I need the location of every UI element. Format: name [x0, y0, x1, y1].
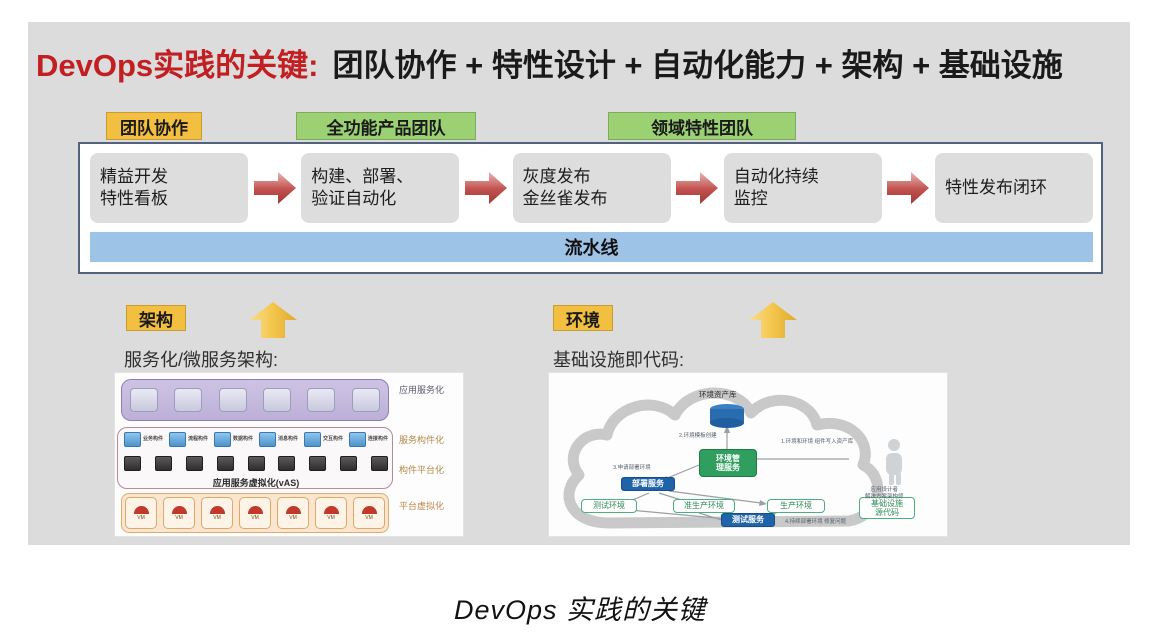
vm-hat-icon	[172, 506, 187, 514]
app-chat-icon	[219, 388, 247, 412]
vm-chip: VM	[277, 497, 309, 529]
flow-box-2-line2: 验证自动化	[311, 188, 396, 210]
flow-box-2[interactable]: 构建、部署、 验证自动化	[301, 153, 459, 223]
slide-title: DevOps实践的关键: 团队协作 + 特性设计 + 自动化能力 + 架构 + …	[36, 40, 1126, 84]
component-icon	[169, 432, 186, 447]
chip-domain-feature-team[interactable]: 领域特性团队	[608, 112, 796, 140]
component-cell: 流程构件	[169, 432, 208, 447]
component-cell: 数据构件	[214, 432, 253, 447]
platform-icon	[248, 456, 265, 471]
slide-canvas: DevOps实践的关键: 团队协作 + 特性设计 + 自动化能力 + 架构 + …	[28, 22, 1130, 545]
title-rest: 团队协作 + 特性设计 + 自动化能力 + 架构 + 基础设施	[332, 40, 1062, 85]
section-badge-architecture[interactable]: 架构	[126, 305, 186, 331]
component-label-6a: 连接	[368, 436, 378, 442]
vm-chip: VM	[201, 497, 233, 529]
component-icon	[349, 432, 366, 447]
cloud-figure: 环境资产库 环境管 理服务 部署服务 测试服务 测试环境 准生产环境 生产环境	[548, 372, 948, 537]
component-label-5b: 构件	[333, 436, 343, 442]
flow-box-1[interactable]: 精益开发 特性看板	[90, 153, 248, 223]
component-row-bottom	[124, 456, 388, 471]
component-row-top: 业务构件 流程构件 数据构件 消息构件	[124, 432, 388, 447]
flow-box-4-line2: 监控	[734, 188, 768, 210]
flow-box-3-line2: 金丝雀发布	[523, 188, 608, 210]
component-cell: 消息构件	[259, 432, 298, 447]
vm-hat-icon	[248, 506, 263, 514]
test-service-box[interactable]: 测试服务	[721, 513, 775, 527]
annotation-3: 3.申请部署环境	[613, 465, 651, 472]
vm-hat-icon	[286, 506, 301, 514]
flow-box-5-line1: 特性发布闭环	[945, 177, 1047, 199]
platform-icon	[371, 456, 388, 471]
caption-service-microservice: 服务化/微服务架构:	[124, 346, 278, 372]
vm-chip: VM	[315, 497, 347, 529]
component-label-2b: 构件	[198, 436, 208, 442]
actor-label: 应用设计者 解决方案架构师	[865, 487, 904, 500]
app-mail-icon	[130, 388, 158, 412]
app-book-icon	[263, 388, 291, 412]
figure-caption: DevOps 实践的关键	[0, 588, 1160, 627]
repo-label: 环境资产库	[699, 389, 737, 400]
annotation-4: 4.持续部署环境 修复问题	[785, 519, 846, 526]
app-calendar-icon	[352, 388, 380, 412]
layer-label-application: 应用服务化	[399, 385, 459, 396]
pipeline-bar: 流水线	[90, 232, 1093, 262]
component-icon	[259, 432, 276, 447]
arrow-right-icon	[674, 168, 720, 208]
component-cell: 连接构件	[349, 432, 388, 447]
component-icon	[124, 432, 141, 447]
flow-box-3[interactable]: 灰度发布 金丝雀发布	[513, 153, 671, 223]
flow-box-5[interactable]: 特性发布闭环	[935, 153, 1093, 223]
component-label-2a: 流程	[188, 436, 198, 442]
component-label-3b: 构件	[243, 436, 253, 442]
layer-label-component-platform: 构件平台化	[399, 465, 459, 476]
component-label-1b: 构件	[153, 436, 163, 442]
title-highlight: DevOps实践的关键:	[36, 40, 318, 85]
arrow-right-icon	[252, 168, 298, 208]
component-label-5a: 交互	[323, 436, 333, 442]
vm-hat-icon	[324, 506, 339, 514]
chip-full-function-product-team[interactable]: 全功能产品团队	[296, 112, 476, 140]
flow-box-3-line1: 灰度发布	[523, 166, 591, 188]
component-icon	[214, 432, 231, 447]
section-badge-environment[interactable]: 环境	[553, 305, 613, 331]
environment-box-test[interactable]: 测试环境	[581, 499, 637, 513]
flow-box-4-line1: 自动化持续	[734, 166, 819, 188]
vm-chip: VM	[239, 497, 271, 529]
environment-manager-box[interactable]: 环境管 理服务	[699, 449, 757, 477]
arrow-right-icon	[463, 168, 509, 208]
chip-team-collaboration[interactable]: 团队协作	[106, 112, 202, 140]
vas-caption: 应用服务虚拟化(vAS)	[118, 476, 394, 489]
component-label-6b: 构件	[378, 436, 388, 442]
vm-chip: VM	[125, 497, 157, 529]
app-globe-icon	[174, 388, 202, 412]
arrow-up-icon	[246, 300, 300, 340]
platform-icon	[155, 456, 172, 471]
arrow-up-icon	[746, 300, 800, 340]
component-cell: 业务构件	[124, 432, 163, 447]
pipeline-panel: 精益开发 特性看板 构建、部署、 验证自动化	[78, 142, 1103, 274]
environment-box-prod[interactable]: 生产环境	[767, 499, 825, 513]
deploy-service-box[interactable]: 部署服务	[621, 477, 675, 491]
baseline-source-box[interactable]: 基础设施 源代码	[859, 497, 915, 519]
component-cell: 交互构件	[304, 432, 343, 447]
platform-icon	[217, 456, 234, 471]
service-component-band: 业务构件 流程构件 数据构件 消息构件	[117, 427, 393, 489]
caption-infrastructure-as-code: 基础设施即代码:	[553, 346, 684, 372]
app-disc-icon	[307, 388, 335, 412]
vm-hat-icon	[210, 506, 225, 514]
vm-chip: VM	[353, 497, 385, 529]
vm-hat-icon	[134, 506, 149, 514]
application-layer-band	[121, 379, 389, 421]
annotation-2: 2.环境模板创建	[679, 433, 717, 440]
platform-icon	[186, 456, 203, 471]
platform-icon	[340, 456, 357, 471]
flow-box-4[interactable]: 自动化持续 监控	[724, 153, 882, 223]
architecture-figure: 业务构件 流程构件 数据构件 消息构件	[114, 372, 464, 537]
platform-icon	[309, 456, 326, 471]
chip-row: 团队协作 全功能产品团队 领域特性团队	[28, 112, 1128, 142]
layer-label-platform-virtualization: 平台虚拟化	[399, 501, 459, 512]
environment-box-preprod[interactable]: 准生产环境	[673, 499, 735, 513]
screenshot-root: DevOps实践的关键: 团队协作 + 特性设计 + 自动化能力 + 架构 + …	[0, 0, 1160, 640]
annotation-1: 1.环境和环境 组件写入资产库	[781, 439, 853, 446]
component-label-4a: 消息	[278, 436, 288, 442]
arrow-right-icon	[885, 168, 931, 208]
component-icon	[304, 432, 321, 447]
component-label-4b: 构件	[288, 436, 298, 442]
platform-icon	[124, 456, 141, 471]
flow-row: 精益开发 特性看板 构建、部署、 验证自动化	[90, 152, 1093, 224]
flow-box-1-line2: 特性看板	[100, 188, 168, 210]
platform-virtualization-band: VM VM VM VM VM VM VM	[121, 493, 389, 533]
platform-icon	[278, 456, 295, 471]
component-label-3a: 数据	[233, 436, 243, 442]
layer-label-service-component: 服务构件化	[399, 435, 459, 446]
flow-box-2-line1: 构建、部署、	[311, 166, 413, 188]
flow-box-1-line1: 精益开发	[100, 166, 168, 188]
vm-chip: VM	[163, 497, 195, 529]
component-label-1a: 业务	[143, 436, 153, 442]
vm-hat-icon	[362, 506, 377, 514]
